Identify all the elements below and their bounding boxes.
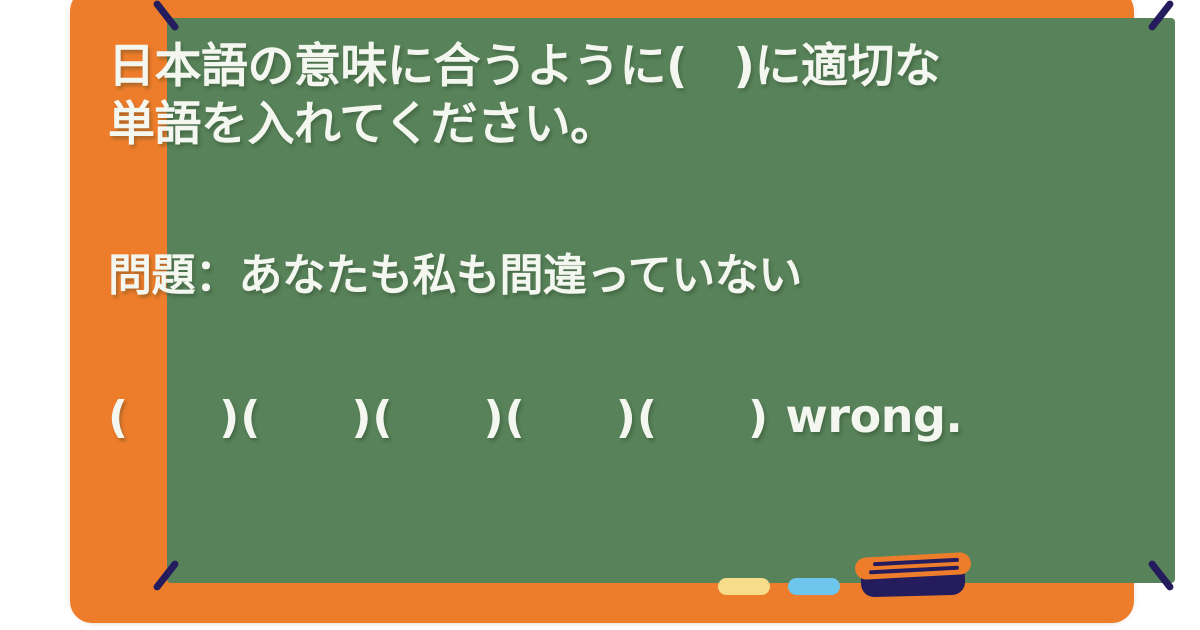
answer-blank-parentheses: ( )( )( )( )( ) bbox=[108, 392, 785, 443]
chalkboard-eraser bbox=[855, 551, 971, 596]
answer-line: ( )( )( )( )( ) wrong. bbox=[108, 390, 1008, 444]
question-text: 問題：あなたも私も間違っていない bbox=[108, 250, 1008, 302]
yellow-chalk-stick bbox=[718, 578, 770, 595]
instruction-text: 日本語の意味に合うように( )に適切な 単語を入れてください。 bbox=[108, 38, 1008, 154]
blue-chalk-stick bbox=[788, 578, 840, 595]
corner-tack-top-left-icon bbox=[152, 0, 180, 32]
chalk-tray bbox=[70, 597, 1134, 623]
instruction-line-1: 日本語の意味に合うように( )に適切な bbox=[108, 39, 940, 94]
chalkboard-scene: 日本語の意味に合うように( )に適切な 単語を入れてください。 問題：あなたも私… bbox=[0, 0, 1200, 630]
chalkboard-text-content: 日本語の意味に合うように( )に適切な 単語を入れてください。 問題：あなたも私… bbox=[108, 38, 1008, 444]
answer-word: wrong. bbox=[785, 389, 962, 443]
instruction-line-2: 単語を入れてください。 bbox=[108, 97, 617, 152]
